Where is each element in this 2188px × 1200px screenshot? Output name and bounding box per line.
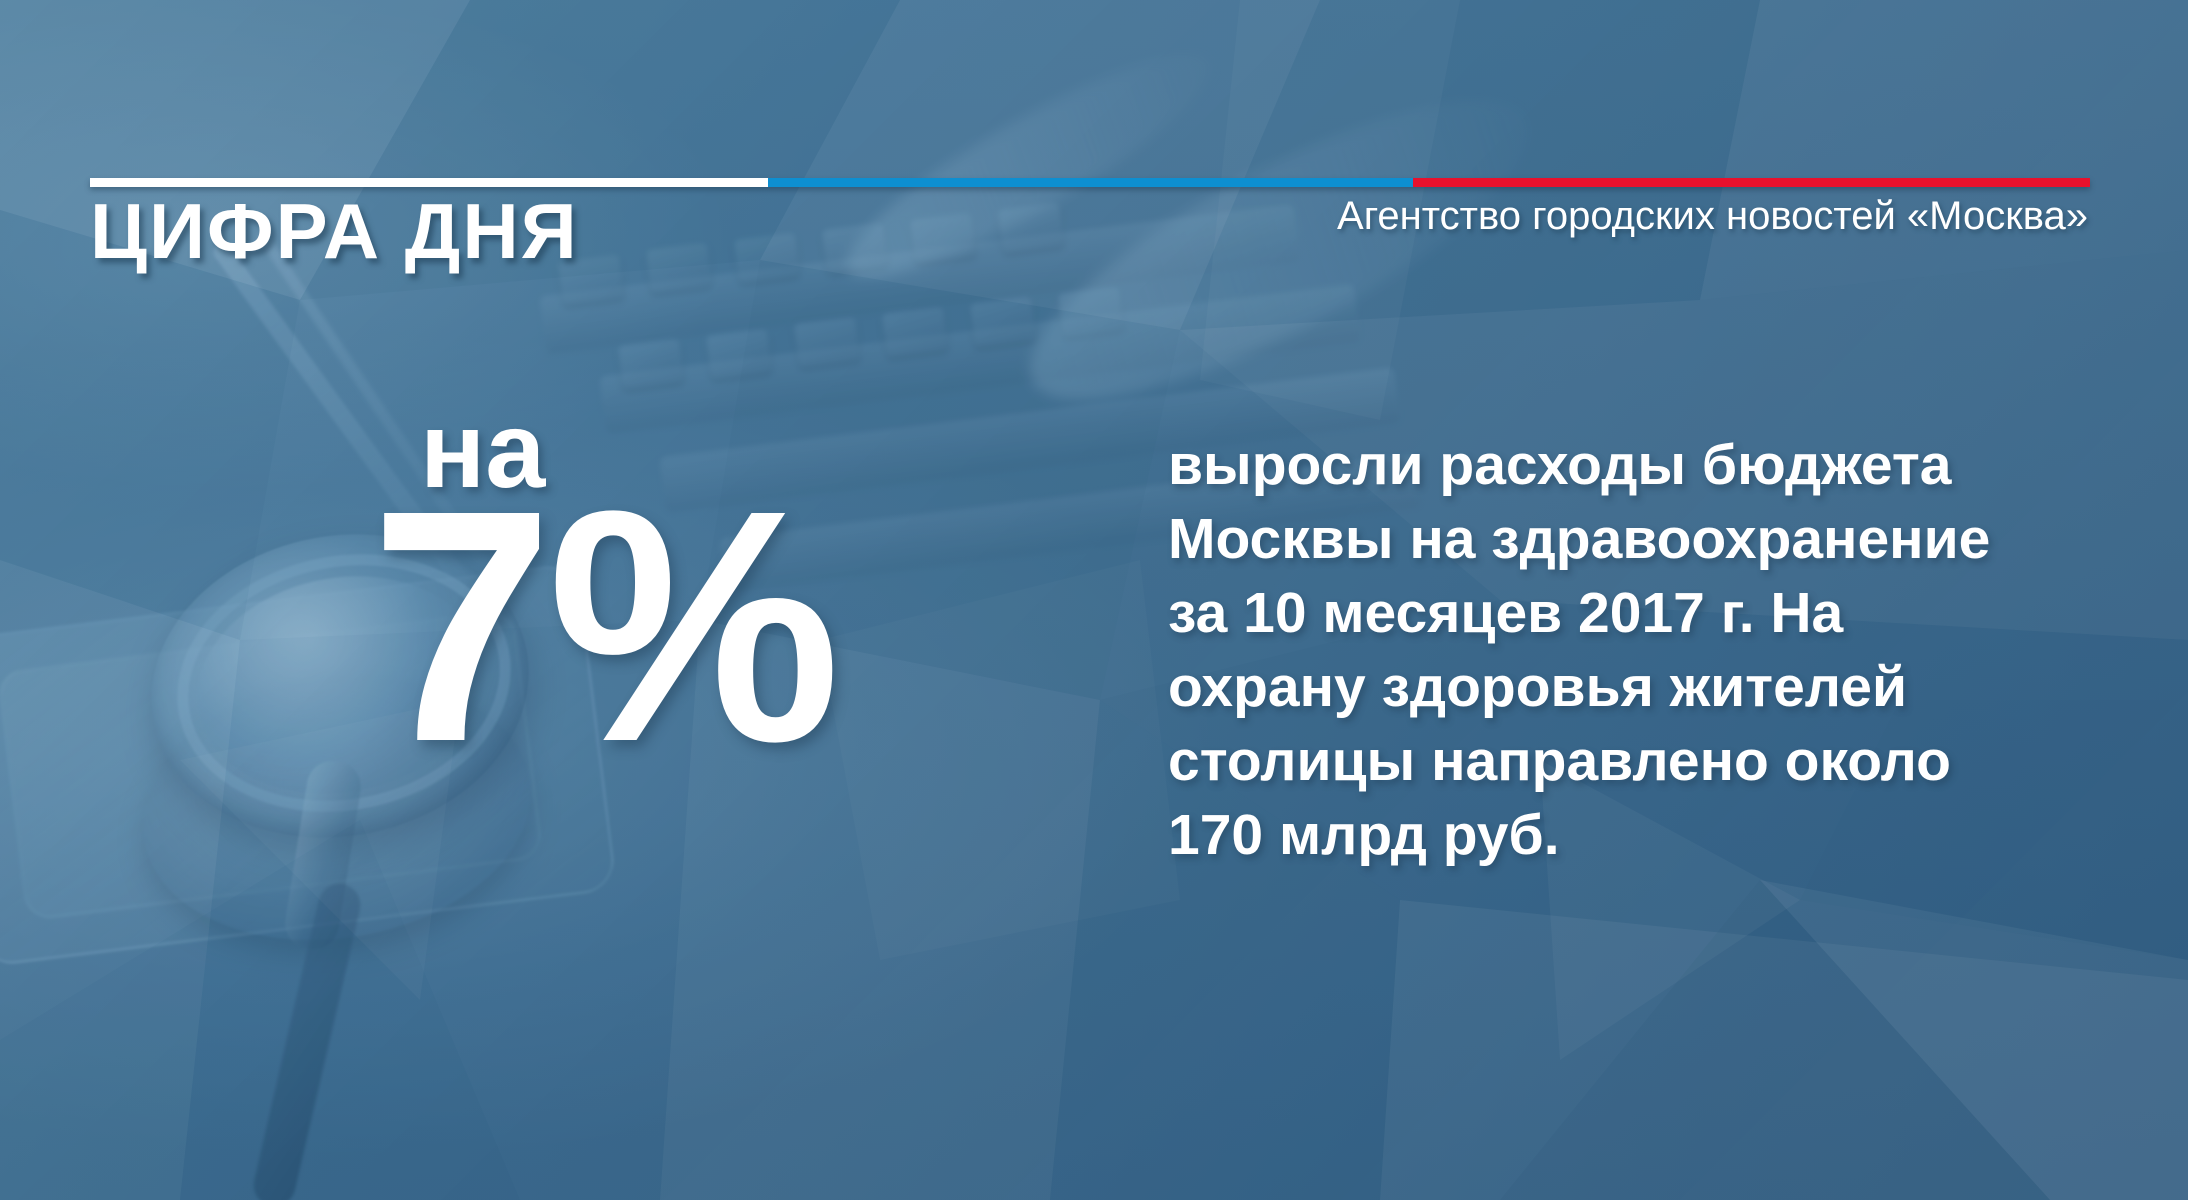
infographic-poster: ЦИФРА ДНЯ Агентство городских новостей «… [0, 0, 2188, 1200]
body-copy-line: охрану здоровья жителей [1168, 650, 2048, 724]
body-copy-line: 170 млрд руб. [1168, 798, 2048, 872]
body-copy-line: за 10 месяцев 2017 г. На [1168, 576, 2048, 650]
body-copy-line: столицы направлено около [1168, 724, 2048, 798]
figure-value: 7% [370, 481, 1090, 771]
page-title: ЦИФРА ДНЯ [90, 192, 579, 270]
divider-segment-red [1413, 178, 2090, 187]
agency-name: Агентство городских новостей «Москва» [1337, 192, 2088, 240]
divider-segment-white [90, 178, 768, 187]
body-copy: выросли расходы бюджета Москвы на здраво… [1168, 428, 2048, 873]
body-copy-line: Москвы на здравоохранение [1168, 502, 2048, 576]
divider-segment-blue [768, 178, 1413, 187]
figure-block: на 7% [370, 400, 1090, 772]
body-copy-line: выросли расходы бюджета [1168, 428, 2048, 502]
tricolor-divider [90, 178, 2090, 187]
